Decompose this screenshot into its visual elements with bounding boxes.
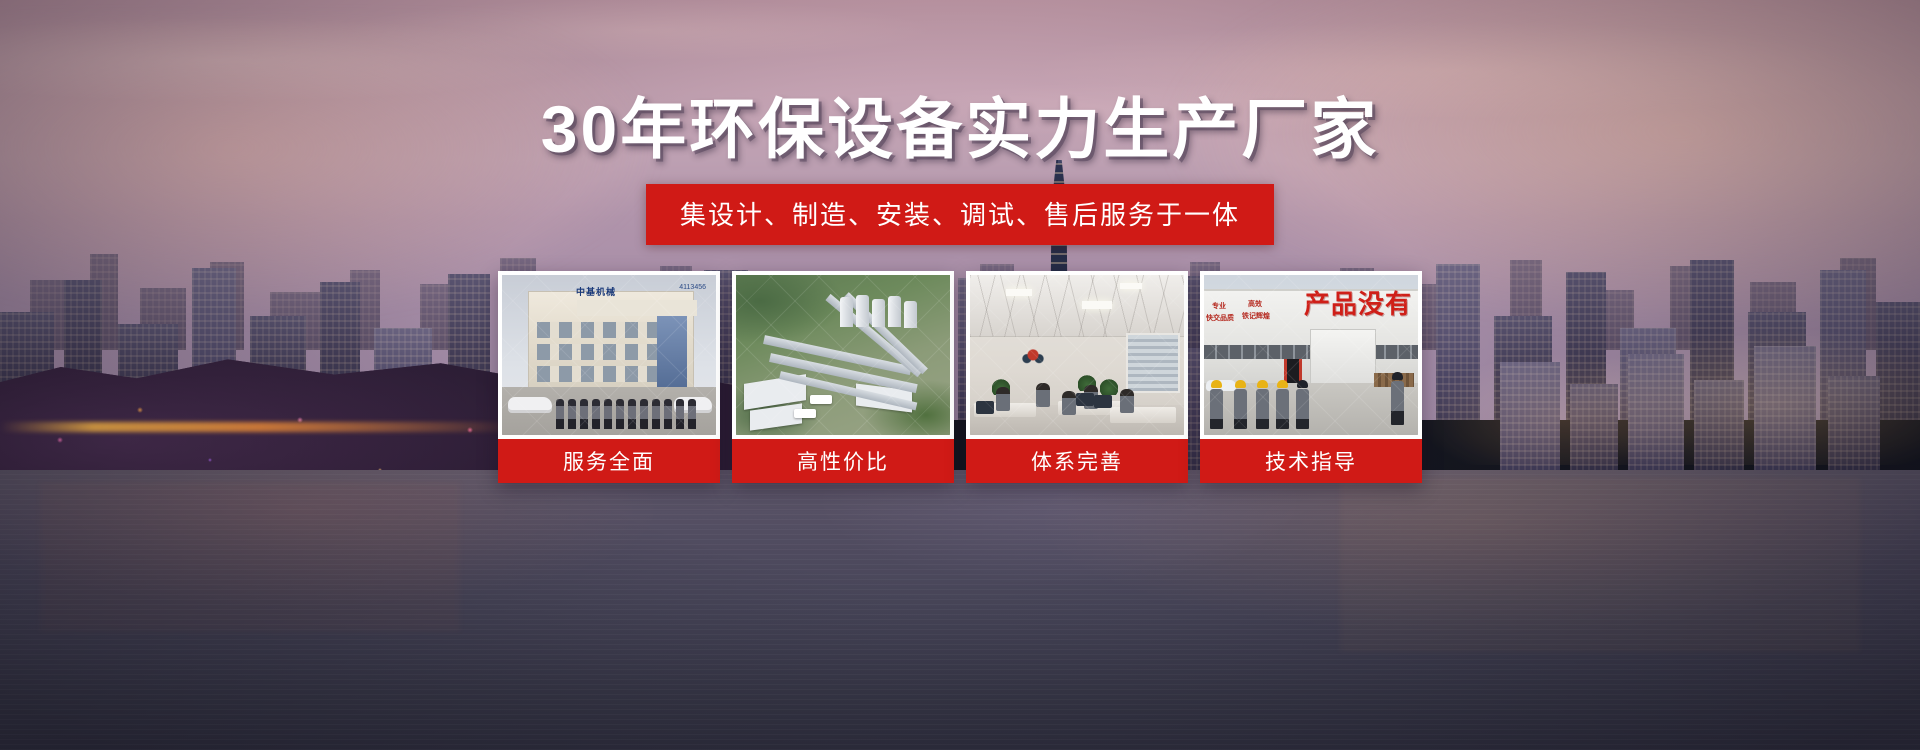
wall-logo-decal: [1016, 345, 1050, 367]
feature-card[interactable]: 中基机械 4113456 服务全面: [498, 271, 720, 483]
banner-content: 30年环保设备实力生产厂家 集设计、制造、安装、调试、售后服务于一体 中基机械 …: [0, 0, 1920, 750]
hero-banner: 30年环保设备实力生产厂家 集设计、制造、安装、调试、售后服务于一体 中基机械 …: [0, 0, 1920, 750]
factory-wall-slogan-left-3: 高效: [1248, 301, 1262, 310]
card-photo-factory-exterior-workers-hardhats: 产品没有 专业 快交品质 高效 铁记辉煌: [1204, 275, 1418, 435]
feature-card[interactable]: 高性价比: [732, 271, 954, 483]
factory-wall-slogan: 产品没有: [1304, 291, 1412, 317]
card-caption: 高性价比: [732, 439, 954, 483]
banner-headline: 30年环保设备实力生产厂家: [541, 96, 1379, 162]
factory-wall-slogan-left-4: 铁记辉煌: [1242, 313, 1270, 322]
feature-card-list: 中基机械 4113456 服务全面: [498, 271, 1422, 483]
factory-wall-slogan-left-2: 快交品质: [1206, 315, 1234, 324]
banner-subtitle-band: 集设计、制造、安装、调试、售后服务于一体: [646, 184, 1274, 245]
card-photo-aerial-view-industrial-plant: [736, 275, 950, 435]
factory-wall-slogan-left-1: 专业: [1212, 303, 1226, 312]
card-photo-office-interior-workstations: [970, 275, 1184, 435]
building-phone-number: 4113456: [679, 284, 706, 291]
feature-card[interactable]: 产品没有 专业 快交品质 高效 铁记辉煌: [1200, 271, 1422, 483]
feature-card[interactable]: 体系完善: [966, 271, 1188, 483]
card-caption: 服务全面: [498, 439, 720, 483]
card-caption: 技术指导: [1200, 439, 1422, 483]
card-photo-company-office-building-with-staff: 中基机械 4113456: [502, 275, 716, 435]
card-caption: 体系完善: [966, 439, 1188, 483]
building-sign-text: 中基机械: [576, 285, 616, 298]
